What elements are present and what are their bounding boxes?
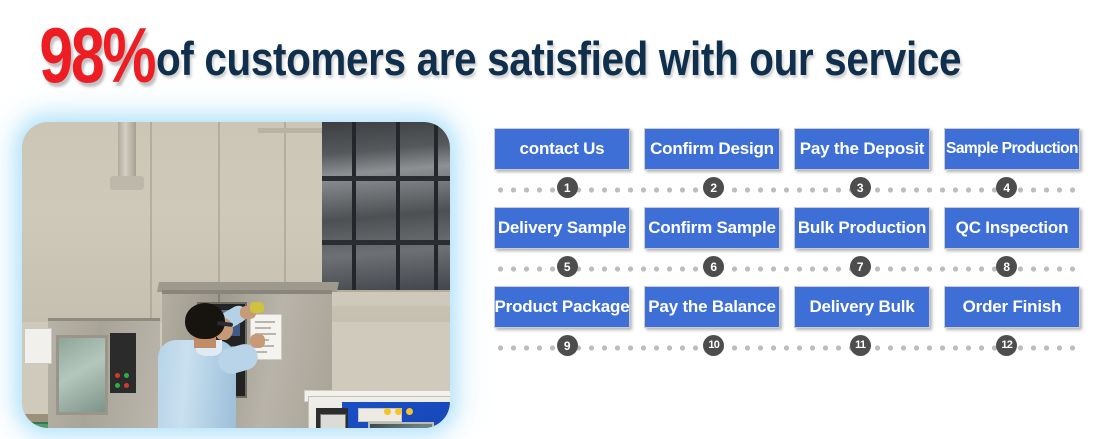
step-number-7: 7 xyxy=(850,256,871,277)
step-number-5: 5 xyxy=(557,256,578,277)
step-button-row-3: Product Package Pay the Balance Delivery… xyxy=(494,286,1080,328)
left-test-chamber xyxy=(48,318,160,428)
oven-gauge xyxy=(320,414,346,428)
step-button-row-1: contact Us Confirm Design Pay the Deposi… xyxy=(494,128,1080,170)
step-number-12: 12 xyxy=(996,335,1017,356)
chamber-window xyxy=(56,335,108,415)
step-button-bulk-production[interactable]: Bulk Production xyxy=(794,207,930,249)
step-button-row-2: Delivery Sample Confirm Sample Bulk Prod… xyxy=(494,207,1080,249)
factory-photo xyxy=(22,122,450,428)
step-button-product-package[interactable]: Product Package xyxy=(494,286,630,328)
headline-percent: 98% xyxy=(40,16,155,94)
dotted-connector-line xyxy=(494,187,1080,193)
step-connector-row-1: 1 2 3 4 xyxy=(494,177,1080,207)
headline-text: of customers are satisfied with our serv… xyxy=(156,26,961,84)
step-row-3: Product Package Pay the Balance Delivery… xyxy=(494,286,1080,365)
window-mullion xyxy=(396,122,400,292)
step-number-3: 3 xyxy=(850,177,871,198)
step-button-confirm-sample[interactable]: Confirm Sample xyxy=(644,207,780,249)
step-number-1: 1 xyxy=(557,177,578,198)
step-button-contact-us[interactable]: contact Us xyxy=(494,128,630,170)
step-button-pay-the-balance[interactable]: Pay the Balance xyxy=(644,286,780,328)
person-right-hand xyxy=(250,334,265,348)
step-connector-row-2: 5 6 7 8 xyxy=(494,256,1080,286)
step-row-2: Delivery Sample Confirm Sample Bulk Prod… xyxy=(494,207,1080,286)
wall-seam xyxy=(150,122,152,322)
step-button-pay-the-deposit[interactable]: Pay the Deposit xyxy=(794,128,930,170)
window-sill xyxy=(318,290,450,306)
step-number-6: 6 xyxy=(703,256,724,277)
dotted-connector-line xyxy=(494,345,1080,351)
step-button-qc-inspection[interactable]: QC Inspection xyxy=(944,207,1080,249)
oven-viewing-window xyxy=(368,422,434,428)
chamber-control-panel xyxy=(110,333,136,393)
window-rail xyxy=(322,176,450,181)
factory-photo-image xyxy=(22,122,450,428)
indicator-light-red xyxy=(124,383,129,388)
step-button-sample-production[interactable]: Sample Production xyxy=(944,128,1080,170)
indicator-light-green xyxy=(115,383,120,388)
step-number-2: 2 xyxy=(703,177,724,198)
step-number-10: 10 xyxy=(703,335,724,356)
step-number-9: 9 xyxy=(557,335,578,356)
indicator-light-red xyxy=(115,373,120,378)
step-number-4: 4 xyxy=(996,177,1017,198)
window-mullion xyxy=(434,122,438,292)
wall-duct xyxy=(110,176,144,190)
window-rail xyxy=(322,240,450,245)
ceiling-panel xyxy=(258,128,332,133)
step-number-8: 8 xyxy=(996,256,1017,277)
document-sheet xyxy=(24,328,52,364)
step-button-order-finish[interactable]: Order Finish xyxy=(944,286,1080,328)
step-button-confirm-design[interactable]: Confirm Design xyxy=(644,128,780,170)
step-button-delivery-sample[interactable]: Delivery Sample xyxy=(494,207,630,249)
step-button-delivery-bulk[interactable]: Delivery Bulk xyxy=(794,286,930,328)
indicator-light-green xyxy=(124,373,129,378)
glass-window-wall xyxy=(322,122,450,292)
order-process-steps: contact Us Confirm Design Pay the Deposi… xyxy=(494,128,1080,365)
step-connector-row-3: 9 10 11 12 xyxy=(494,335,1080,365)
oven-indicator-lights xyxy=(384,408,418,416)
step-row-1: contact Us Confirm Design Pay the Deposi… xyxy=(494,128,1080,207)
step-number-11: 11 xyxy=(850,335,871,356)
dotted-connector-line xyxy=(494,266,1080,272)
window-mullion xyxy=(352,122,356,292)
yellow-object xyxy=(250,302,264,313)
oven-control-panel xyxy=(316,408,348,428)
page-title: 98% of customers are satisfied with our … xyxy=(0,6,1100,104)
